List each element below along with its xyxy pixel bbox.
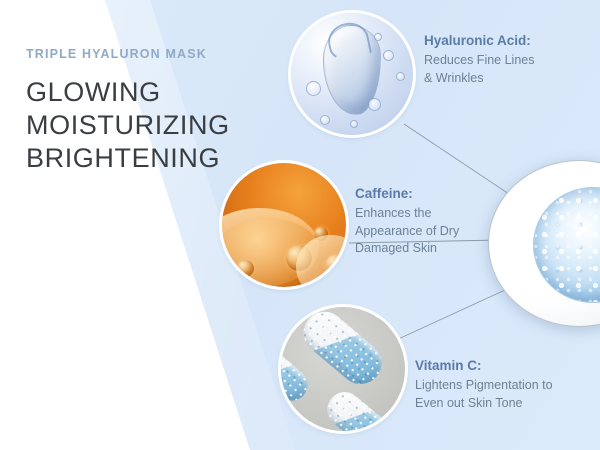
gel-bubble xyxy=(396,72,405,81)
ingredient-name: Vitamin C xyxy=(415,358,477,373)
callout-description: Reduces Fine Lines & Wrinkles xyxy=(424,52,599,88)
callout-hyaluronic-acid: Hyaluronic Acid: Reduces Fine Lines & Wr… xyxy=(424,33,599,87)
callout-title: Vitamin C: xyxy=(415,358,600,375)
headline-block: TRIPLE HYALURON MASK GLOWING MOISTURIZIN… xyxy=(26,48,276,175)
ingredient-name: Caffeine xyxy=(355,186,408,201)
caffeine-oil-texture xyxy=(222,163,346,287)
page-title: GLOWING MOISTURIZING BRIGHTENING xyxy=(26,76,276,175)
hyaluronic-gel-texture xyxy=(291,13,413,135)
callout-title: Hyaluronic Acid: xyxy=(424,33,599,50)
gel-bubbles xyxy=(534,188,600,302)
title-colon: : xyxy=(526,33,531,48)
ingredient-swatch-hyaluronic-acid xyxy=(291,13,413,135)
title-colon: : xyxy=(408,186,413,201)
callout-description: Enhances the Appearance of Dry Damaged S… xyxy=(355,205,505,258)
capsule-secondary xyxy=(320,385,397,431)
gel-bubble xyxy=(374,33,382,41)
desc-line: & Wrinkles xyxy=(424,71,484,85)
headline-line-2: MOISTURIZING xyxy=(26,109,276,142)
callout-title: Caffeine: xyxy=(355,186,505,203)
desc-line: Appearance of Dry xyxy=(355,224,459,238)
headline-line-1: GLOWING xyxy=(26,76,276,109)
ingredient-name: Hyaluronic Acid xyxy=(424,33,526,48)
gel-bubble xyxy=(350,120,358,128)
ingredient-swatch-vitamin-c xyxy=(281,307,405,431)
desc-line: Reduces Fine Lines xyxy=(424,53,534,67)
gel-bubble xyxy=(383,50,394,61)
capsule-microbeads xyxy=(295,307,390,393)
capsule-main xyxy=(295,307,390,393)
headline-line-3: BRIGHTENING xyxy=(26,142,276,175)
desc-line: Lightens Pigmentation to xyxy=(415,378,553,392)
desc-line: Enhances the xyxy=(355,206,431,220)
title-colon: : xyxy=(477,358,482,373)
gel-bubble xyxy=(306,81,321,96)
callout-vitamin-c: Vitamin C: Lightens Pigmentation to Even… xyxy=(415,358,600,412)
capsule-microbeads xyxy=(281,343,314,408)
capsule-secondary xyxy=(281,343,314,408)
gel-bubble xyxy=(320,115,330,125)
callout-caffeine: Caffeine: Enhances the Appearance of Dry… xyxy=(355,186,505,258)
desc-line: Damaged Skin xyxy=(355,241,437,255)
oil-bubble xyxy=(237,260,254,277)
ingredient-swatch-caffeine xyxy=(222,163,346,287)
capsule-microbeads xyxy=(320,385,397,431)
infographic-canvas: TRIPLE HYALURON MASK GLOWING MOISTURIZIN… xyxy=(0,0,600,450)
vitamin-c-capsule-texture xyxy=(281,307,405,431)
gel-bubble xyxy=(368,98,381,111)
callout-description: Lightens Pigmentation to Even out Skin T… xyxy=(415,377,600,413)
desc-line: Even out Skin Tone xyxy=(415,396,522,410)
product-gel xyxy=(533,187,600,303)
brand-eyebrow: TRIPLE HYALURON MASK xyxy=(26,48,276,62)
